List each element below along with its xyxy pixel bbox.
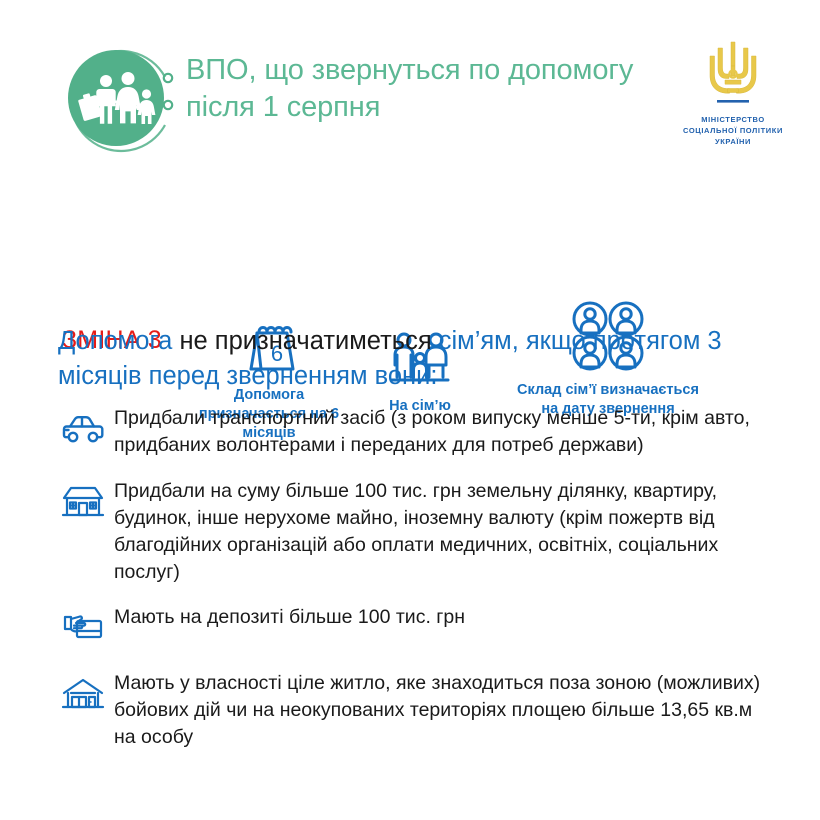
main-heading: Допомога не призначатиметься сім’ям, якщ… <box>58 324 770 393</box>
displaced-family-icon <box>68 50 164 146</box>
hand-card-icon <box>61 612 105 644</box>
ministry-logo-line1: МІНІСТЕРСТВО <box>674 115 792 126</box>
ministry-logo-line2: СОЦІАЛЬНОЇ ПОЛІТИКИ <box>674 126 792 137</box>
house-icon <box>61 676 105 712</box>
displaced-family-badge <box>62 42 180 160</box>
list-item: Мають на депозиті більше 100 тис. грн <box>52 603 782 651</box>
ukraine-trident-emblem-icon <box>701 36 765 110</box>
list-item-text: Придбали транспортний засіб (з роком вип… <box>114 404 782 459</box>
house-icon-wrap <box>52 669 114 717</box>
page-title: ВПО, що звернуться по допомогу після 1 с… <box>186 52 636 126</box>
list-item: Придбали на суму більше 100 тис. грн зем… <box>52 477 782 586</box>
hand-card-icon-wrap <box>52 603 114 651</box>
ministry-logo-line3: УКРАЇНИ <box>674 137 792 148</box>
feature-row: ЗМІНА 3 6 Допомога призначається на 6 мі… <box>0 150 820 300</box>
list-item-text: Придбали на суму більше 100 тис. грн зем… <box>114 477 782 586</box>
car-icon-wrap <box>52 404 114 452</box>
list-item-text: Мають у власності ціле житло, яке знаход… <box>114 669 782 751</box>
list-item-text: Мають на депозиті більше 100 тис. грн <box>114 603 782 631</box>
list-item: Мають у власності ціле житло, яке знаход… <box>52 669 782 751</box>
car-icon <box>60 413 106 445</box>
reasons-list: Придбали транспортний засіб (з роком вип… <box>52 404 782 767</box>
main-heading-part2: не призначатиметься <box>179 327 438 355</box>
ministry-logo: МІНІСТЕРСТВО СОЦІАЛЬНОЇ ПОЛІТИКИ УКРАЇНИ <box>674 36 792 148</box>
shop-building-icon-wrap <box>52 477 114 525</box>
header: ВПО, що звернуться по допомогу після 1 с… <box>0 0 820 150</box>
ministry-logo-text: МІНІСТЕРСТВО СОЦІАЛЬНОЇ ПОЛІТИКИ УКРАЇНИ <box>674 115 792 148</box>
list-item: Придбали транспортний засіб (з роком вип… <box>52 404 782 459</box>
main-heading-part1: Допомога <box>58 327 179 355</box>
shop-building-icon <box>61 484 105 520</box>
